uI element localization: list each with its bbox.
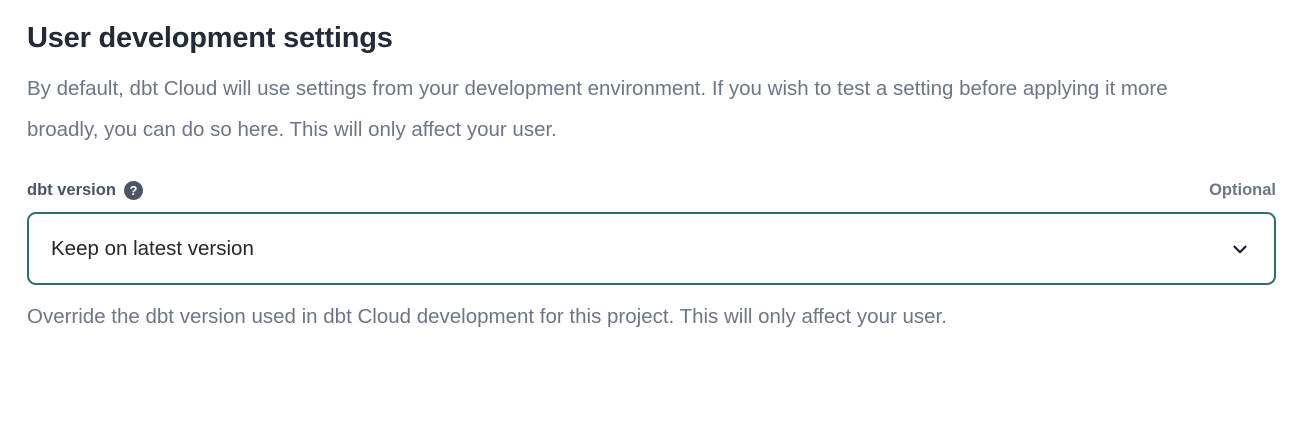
- optional-badge: Optional: [1209, 180, 1276, 200]
- page-title: User development settings: [27, 18, 1276, 58]
- question-mark-icon[interactable]: ?: [124, 181, 143, 200]
- page-description: By default, dbt Cloud will use settings …: [27, 68, 1237, 150]
- field-label-row: dbt version ? Optional: [27, 180, 1276, 200]
- dbt-version-select[interactable]: Keep on latest version: [27, 212, 1276, 285]
- dbt-version-label: dbt version: [27, 180, 116, 200]
- chevron-down-icon[interactable]: [1228, 237, 1252, 261]
- dbt-version-field: dbt version ? Optional Keep on latest ve…: [27, 180, 1276, 332]
- field-label-group: dbt version ?: [27, 180, 143, 200]
- user-development-settings-panel: User development settings By default, db…: [0, 0, 1316, 430]
- dbt-version-help-text: Override the dbt version used in dbt Clo…: [27, 302, 1276, 332]
- dbt-version-selected-value: Keep on latest version: [51, 236, 254, 262]
